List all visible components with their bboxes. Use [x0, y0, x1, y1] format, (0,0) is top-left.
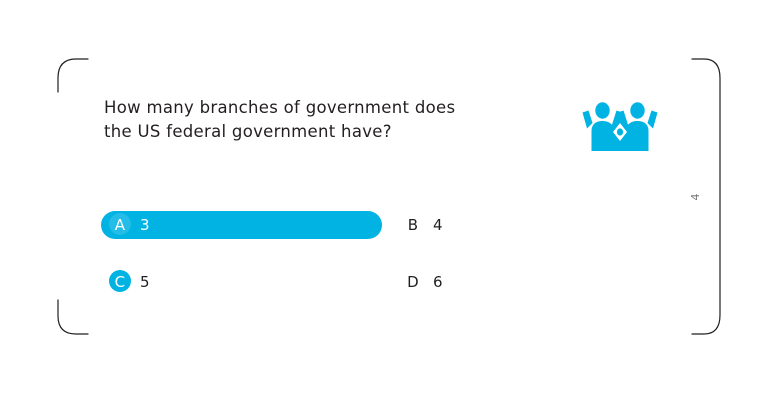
answer-text-c: 5: [140, 273, 150, 291]
answer-text-a: 3: [140, 216, 150, 234]
answer-letter-badge-d: D: [402, 271, 424, 293]
slide-frame-brackets: [0, 0, 777, 418]
three-people-logo-icon: [578, 101, 662, 151]
answer-letter-b: B: [402, 216, 424, 234]
answer-option-a[interactable]: A 3: [101, 211, 382, 239]
quiz-slide: How many branches of government does the…: [0, 0, 777, 418]
answer-letter-badge-b: B: [402, 214, 424, 236]
answer-option-d[interactable]: D 6: [399, 268, 443, 296]
answer-option-b[interactable]: B 4: [399, 211, 443, 239]
answer-letter-c: C: [109, 273, 131, 291]
page-number: 4: [687, 188, 705, 206]
answer-letter-badge-c: C: [109, 271, 131, 293]
answer-letter-d: D: [402, 273, 424, 291]
answer-text-d: 6: [433, 273, 443, 291]
answer-letter-badge-a: A: [109, 214, 131, 236]
question-line-1: How many branches of government does: [104, 96, 524, 120]
answer-option-c[interactable]: C 5: [101, 268, 150, 296]
answer-letter-a: A: [109, 216, 131, 234]
question-text: How many branches of government does the…: [104, 96, 524, 144]
answer-text-b: 4: [433, 216, 443, 234]
question-line-2: the US federal government have?: [104, 120, 524, 144]
